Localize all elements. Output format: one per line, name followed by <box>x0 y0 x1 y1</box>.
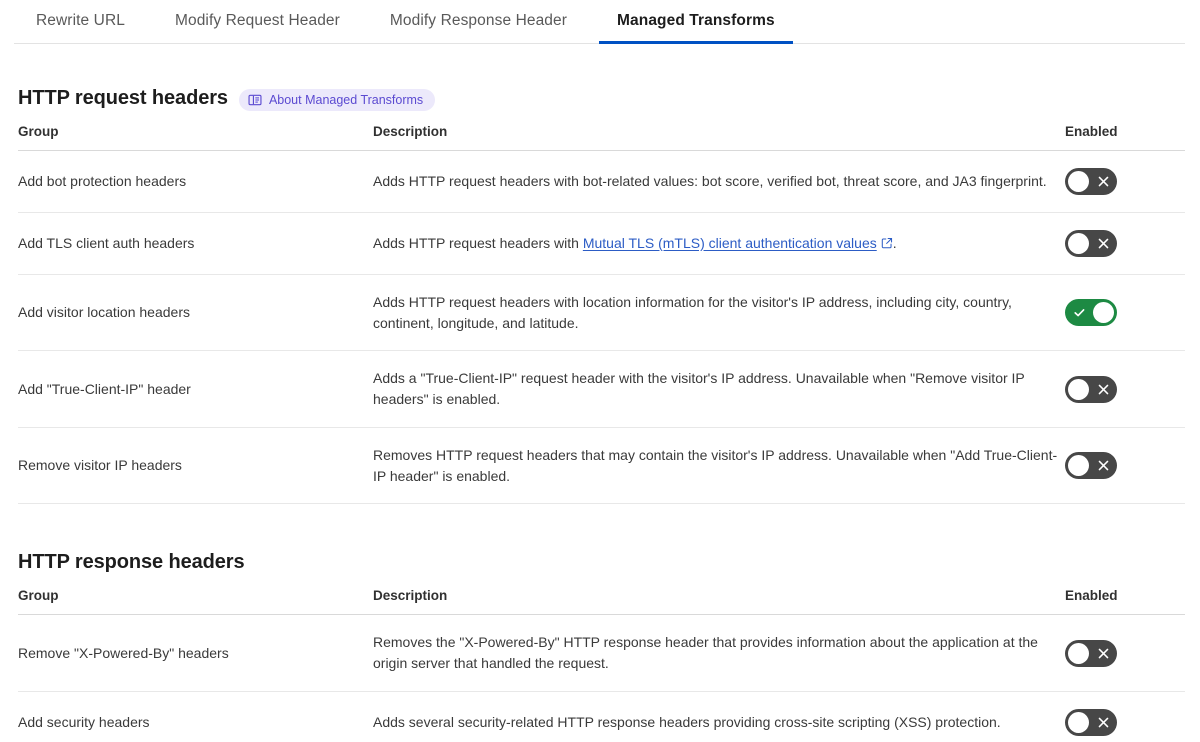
tab-rewrite-url[interactable]: Rewrite URL <box>18 0 143 43</box>
table-row: Add security headers Adds several securi… <box>18 691 1185 742</box>
section-http-request-headers: HTTP request headers About Managed Trans… <box>0 86 1200 504</box>
toggle-add-security-headers[interactable] <box>1065 709 1117 736</box>
row-description: Adds HTTP request headers with location … <box>373 275 1065 351</box>
table-row: Remove visitor IP headers Removes HTTP r… <box>18 427 1185 503</box>
close-icon <box>1089 640 1117 667</box>
row-description: Removes the "X-Powered-By" HTTP response… <box>373 615 1065 691</box>
toggle-knob <box>1093 302 1114 323</box>
close-icon <box>1089 709 1117 736</box>
toggle-knob <box>1068 455 1089 476</box>
toggle-remove-visitor-ip-headers[interactable] <box>1065 452 1117 479</box>
tab-modify-response-header[interactable]: Modify Response Header <box>372 0 585 43</box>
row-description: Adds a "True-Client-IP" request header w… <box>373 351 1065 427</box>
description-prefix: Adds HTTP request headers with <box>373 235 583 251</box>
table-row: Remove "X-Powered-By" headers Removes th… <box>18 615 1185 691</box>
table-row: Add bot protection headers Adds HTTP req… <box>18 151 1185 213</box>
row-group-label: Remove "X-Powered-By" headers <box>18 615 373 691</box>
row-description: Adds HTTP request headers with Mutual TL… <box>373 213 1065 275</box>
table-row: Add visitor location headers Adds HTTP r… <box>18 275 1185 351</box>
about-managed-transforms-link[interactable]: About Managed Transforms <box>239 89 435 111</box>
row-group-label: Remove visitor IP headers <box>18 427 373 503</box>
row-enabled-cell <box>1065 151 1185 213</box>
close-icon <box>1089 376 1117 403</box>
column-header-enabled: Enabled <box>1065 124 1185 151</box>
column-header-enabled: Enabled <box>1065 588 1185 615</box>
description-suffix: . <box>893 235 897 251</box>
row-description: Removes HTTP request headers that may co… <box>373 427 1065 503</box>
row-group-label: Add bot protection headers <box>18 151 373 213</box>
section-title-response: HTTP response headers <box>18 550 245 574</box>
row-enabled-cell <box>1065 615 1185 691</box>
toggle-add-bot-protection-headers[interactable] <box>1065 168 1117 195</box>
column-header-description: Description <box>373 124 1065 151</box>
book-icon <box>248 93 262 107</box>
column-header-description: Description <box>373 588 1065 615</box>
toggle-knob <box>1068 233 1089 254</box>
tab-bar: Rewrite URL Modify Request Header Modify… <box>0 0 1200 44</box>
close-icon <box>1089 230 1117 257</box>
tab-modify-request-header[interactable]: Modify Request Header <box>157 0 358 43</box>
close-icon <box>1089 452 1117 479</box>
request-headers-table: Group Description Enabled Add bot protec… <box>18 124 1185 504</box>
toggle-knob <box>1068 171 1089 192</box>
section-http-response-headers: HTTP response headers Group Description … <box>0 550 1200 742</box>
close-icon <box>1089 168 1117 195</box>
table-row: Add TLS client auth headers Adds HTTP re… <box>18 213 1185 275</box>
managed-transforms-page: Rewrite URL Modify Request Header Modify… <box>0 0 1200 742</box>
row-group-label: Add security headers <box>18 691 373 742</box>
table-header-row: Group Description Enabled <box>18 588 1185 615</box>
section-title-request: HTTP request headers <box>18 86 228 110</box>
row-group-label: Add "True-Client-IP" header <box>18 351 373 427</box>
row-enabled-cell <box>1065 351 1185 427</box>
row-enabled-cell <box>1065 275 1185 351</box>
toggle-add-true-client-ip-header[interactable] <box>1065 376 1117 403</box>
row-enabled-cell <box>1065 213 1185 275</box>
row-description: Adds several security-related HTTP respo… <box>373 691 1065 742</box>
row-description: Adds HTTP request headers with bot-relat… <box>373 151 1065 213</box>
row-enabled-cell <box>1065 427 1185 503</box>
column-header-group: Group <box>18 124 373 151</box>
about-badge-label: About Managed Transforms <box>269 94 423 107</box>
section-header-response: HTTP response headers <box>18 550 1185 574</box>
row-enabled-cell <box>1065 691 1185 742</box>
response-headers-table: Group Description Enabled Remove "X-Powe… <box>18 588 1185 742</box>
row-group-label: Add TLS client auth headers <box>18 213 373 275</box>
toggle-knob <box>1068 643 1089 664</box>
external-link-icon <box>881 234 893 255</box>
toggle-add-tls-client-auth-headers[interactable] <box>1065 230 1117 257</box>
table-header-row: Group Description Enabled <box>18 124 1185 151</box>
check-icon <box>1065 299 1093 326</box>
toggle-remove-x-powered-by-headers[interactable] <box>1065 640 1117 667</box>
column-header-group: Group <box>18 588 373 615</box>
toggle-knob <box>1068 712 1089 733</box>
row-group-label: Add visitor location headers <box>18 275 373 351</box>
toggle-knob <box>1068 379 1089 400</box>
tab-managed-transforms[interactable]: Managed Transforms <box>599 0 793 43</box>
mtls-documentation-link[interactable]: Mutual TLS (mTLS) client authentication … <box>583 235 877 251</box>
toggle-add-visitor-location-headers[interactable] <box>1065 299 1117 326</box>
section-header-request: HTTP request headers About Managed Trans… <box>18 86 1185 110</box>
table-row: Add "True-Client-IP" header Adds a "True… <box>18 351 1185 427</box>
